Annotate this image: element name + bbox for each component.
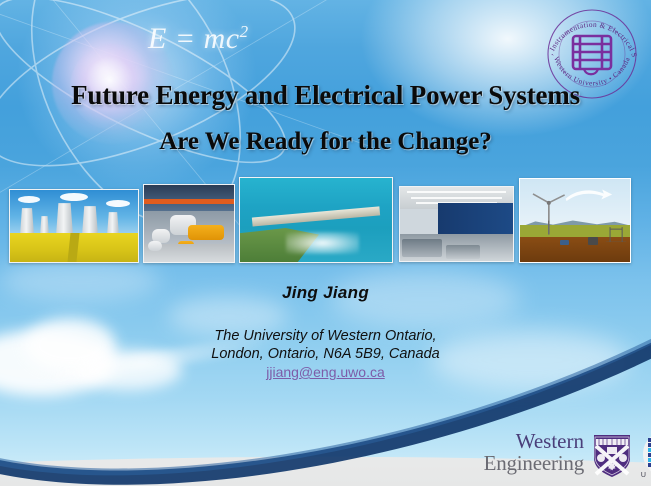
image-grid-control-room	[399, 186, 514, 262]
title-line-2: Are We Ready for the Change?	[0, 128, 651, 156]
western-wordmark-line2: Engineering	[424, 452, 584, 474]
western-engineering-wordmark: Western Engineering	[424, 430, 584, 474]
western-wordmark-line1: Western	[424, 430, 584, 452]
image-hydroelectric-dam-aerial	[239, 177, 393, 263]
image-nuclear-cooling-towers-canola-field	[9, 189, 139, 263]
western-university-crest-icon	[592, 432, 632, 478]
author-name: Jing Jiang	[0, 283, 651, 303]
title-line-1: Future Energy and Electrical Power Syste…	[0, 80, 651, 111]
presentation-slide: E = mc2 Control, Instrumentation & Elect…	[0, 0, 651, 486]
image-strip	[0, 172, 651, 268]
slide-title-block: Future Energy and Electrical Power Syste…	[0, 80, 651, 156]
image-turbine-hall-generator	[143, 184, 235, 263]
branding-block: Western Engineering	[424, 428, 646, 484]
unene-label: U N E N E	[638, 472, 651, 479]
einstein-formula: E = mc2	[148, 22, 249, 56]
image-wind-turbine-diagram	[519, 178, 631, 263]
